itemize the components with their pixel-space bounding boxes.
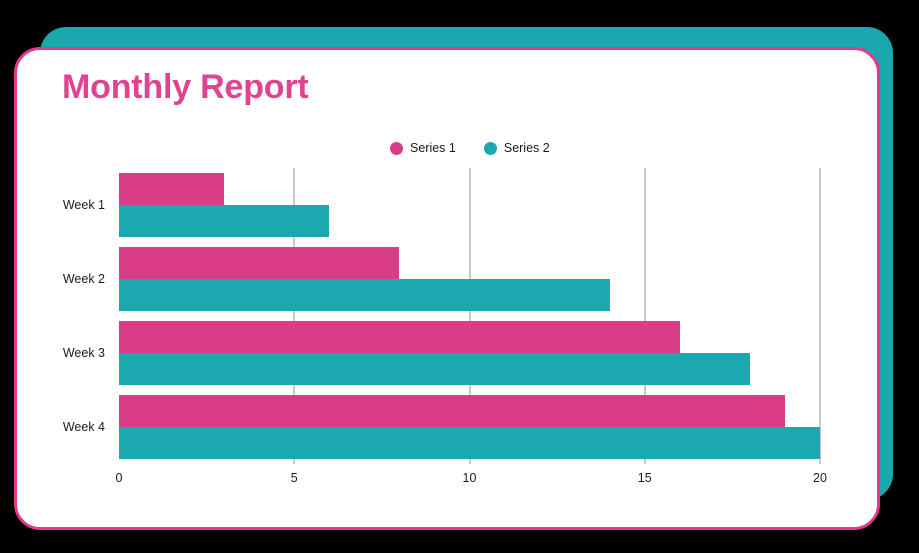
- page-title: Monthly Report: [62, 68, 309, 107]
- bar-series-2[interactable]: [119, 353, 750, 385]
- bar-series-1[interactable]: [119, 173, 224, 205]
- bar-series-1[interactable]: [119, 247, 399, 279]
- screenshot-stage: Monthly Report Series 1 Series 2 Week 1W…: [0, 0, 919, 553]
- y-axis-tick-label: Week 4: [63, 420, 105, 434]
- bar-series-1[interactable]: [119, 321, 680, 353]
- x-axis-tick-label: 5: [291, 471, 298, 485]
- x-axis-tick-label: 0: [116, 471, 123, 485]
- bar-group: [119, 395, 820, 459]
- legend-item-series-2[interactable]: Series 2: [484, 141, 550, 155]
- x-axis-tick-label: 20: [813, 471, 827, 485]
- y-axis-tick-label: Week 1: [63, 198, 105, 212]
- y-axis-labels: Week 1Week 2Week 3Week 4: [0, 168, 113, 464]
- x-axis-labels: 05101520: [119, 471, 820, 491]
- y-axis-tick-label: Week 2: [63, 272, 105, 286]
- bar-series-2[interactable]: [119, 279, 610, 311]
- bar-group: [119, 247, 820, 311]
- y-axis-tick-label: Week 3: [63, 346, 105, 360]
- x-axis-tick-label: 15: [638, 471, 652, 485]
- legend-item-series-1[interactable]: Series 1: [390, 141, 456, 155]
- x-axis-tick-label: 10: [463, 471, 477, 485]
- bar-groups: [119, 168, 820, 464]
- chart-legend: Series 1 Series 2: [390, 141, 550, 155]
- bar-series-2[interactable]: [119, 205, 329, 237]
- bar-group: [119, 321, 820, 385]
- plot-area: [119, 168, 820, 464]
- bar-series-1[interactable]: [119, 395, 785, 427]
- bar-group: [119, 173, 820, 237]
- legend-dot-icon-series-2: [484, 142, 497, 155]
- legend-label-series-1: Series 1: [410, 141, 456, 155]
- bar-series-2[interactable]: [119, 427, 820, 459]
- legend-label-series-2: Series 2: [504, 141, 550, 155]
- legend-dot-icon-series-1: [390, 142, 403, 155]
